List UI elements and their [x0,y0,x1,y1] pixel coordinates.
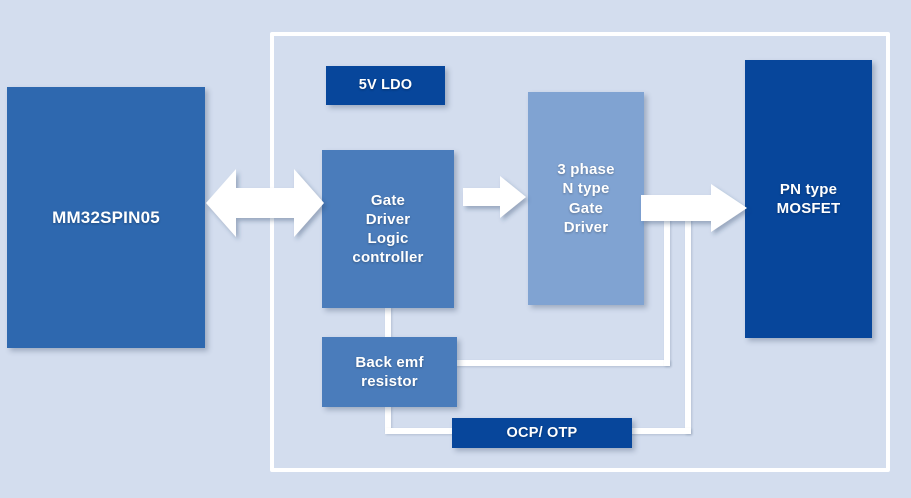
diagram-canvas: MM32SPIN05 5V LDO Gate Driver Logic cont… [0,0,911,498]
block-pn-type-mosfet-label: PN type MOSFET [773,180,845,218]
block-5v-ldo[interactable]: 5V LDO [326,66,445,105]
wire-gate-logic-to-back-emf [385,306,391,339]
right-arrow-icon [463,176,526,218]
wire-bus-riser-right [685,206,691,434]
block-mm32spin05[interactable]: MM32SPIN05 [7,87,205,348]
block-ocp-otp-label: OCP/ OTP [503,424,582,443]
block-back-emf-resistor-label: Back emf resistor [351,353,427,391]
block-ocp-otp[interactable]: OCP/ OTP [452,418,632,448]
right-arrow-icon [641,184,747,232]
block-3-phase-n-type-gate-driver[interactable]: 3 phase N type Gate Driver [528,92,644,305]
block-pn-type-mosfet[interactable]: PN type MOSFET [745,60,872,338]
block-back-emf-resistor[interactable]: Back emf resistor [322,337,457,407]
wire-back-emf-to-ocp-otp [385,428,457,434]
wire-back-emf-to-bus [455,360,670,366]
block-3-phase-n-type-gate-driver-label: 3 phase N type Gate Driver [553,160,618,237]
wire-ocp-otp-to-bus [628,428,691,434]
double-headed-arrow-icon [206,163,324,243]
block-gate-driver-logic-controller[interactable]: Gate Driver Logic controller [322,150,454,308]
block-5v-ldo-label: 5V LDO [355,76,417,95]
block-gate-driver-logic-controller-label: Gate Driver Logic controller [348,191,427,268]
block-mm32spin05-label: MM32SPIN05 [48,207,164,229]
